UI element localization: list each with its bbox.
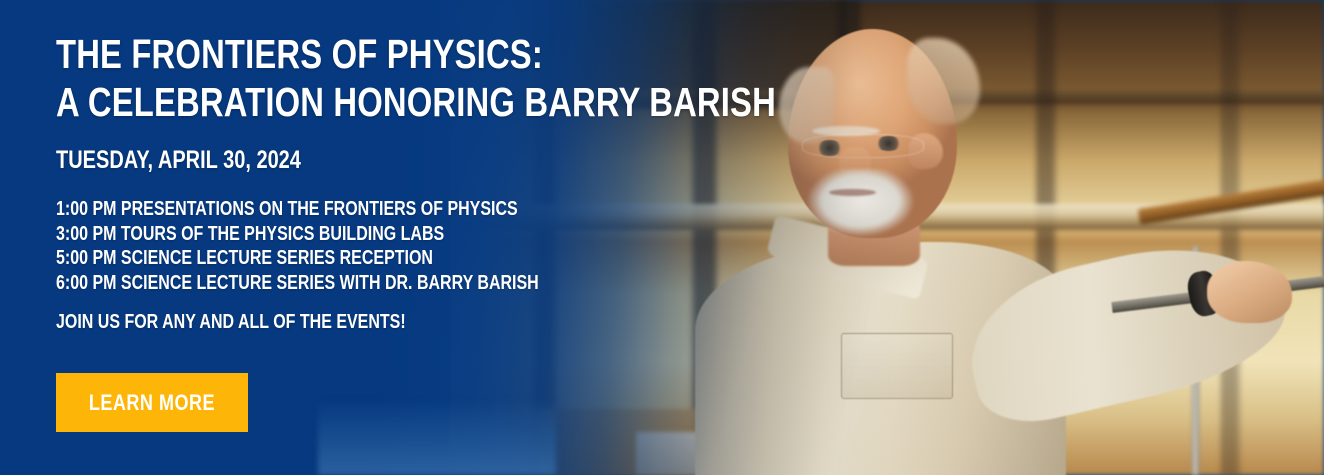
schedule-item: 5:00 PM SCIENCE LECTURE SERIES RECEPTION (56, 246, 539, 271)
banner-headline: THE FRONTIERS OF PHYSICS: A CELEBRATION … (56, 30, 776, 126)
schedule-item: 1:00 PM PRESENTATIONS ON THE FRONTIERS O… (56, 197, 539, 222)
schedule-item: 6:00 PM SCIENCE LECTURE SERIES WITH DR. … (56, 271, 539, 296)
learn-more-label: LEARN MORE (89, 390, 215, 416)
event-schedule-list: 1:00 PM PRESENTATIONS ON THE FRONTIERS O… (56, 197, 539, 295)
headline-line-2: A CELEBRATION HONORING BARRY BARISH (56, 78, 776, 126)
schedule-item: 3:00 PM TOURS OF THE PHYSICS BUILDING LA… (56, 222, 539, 247)
event-date: TUESDAY, APRIL 30, 2024 (56, 145, 301, 175)
event-promo-banner: THE FRONTIERS OF PHYSICS: A CELEBRATION … (0, 0, 1324, 475)
headline-line-1: THE FRONTIERS OF PHYSICS: (56, 30, 776, 78)
banner-content: THE FRONTIERS OF PHYSICS: A CELEBRATION … (56, 0, 756, 475)
learn-more-button[interactable]: LEARN MORE (56, 373, 248, 432)
banner-tagline: JOIN US FOR ANY AND ALL OF THE EVENTS! (56, 310, 406, 334)
